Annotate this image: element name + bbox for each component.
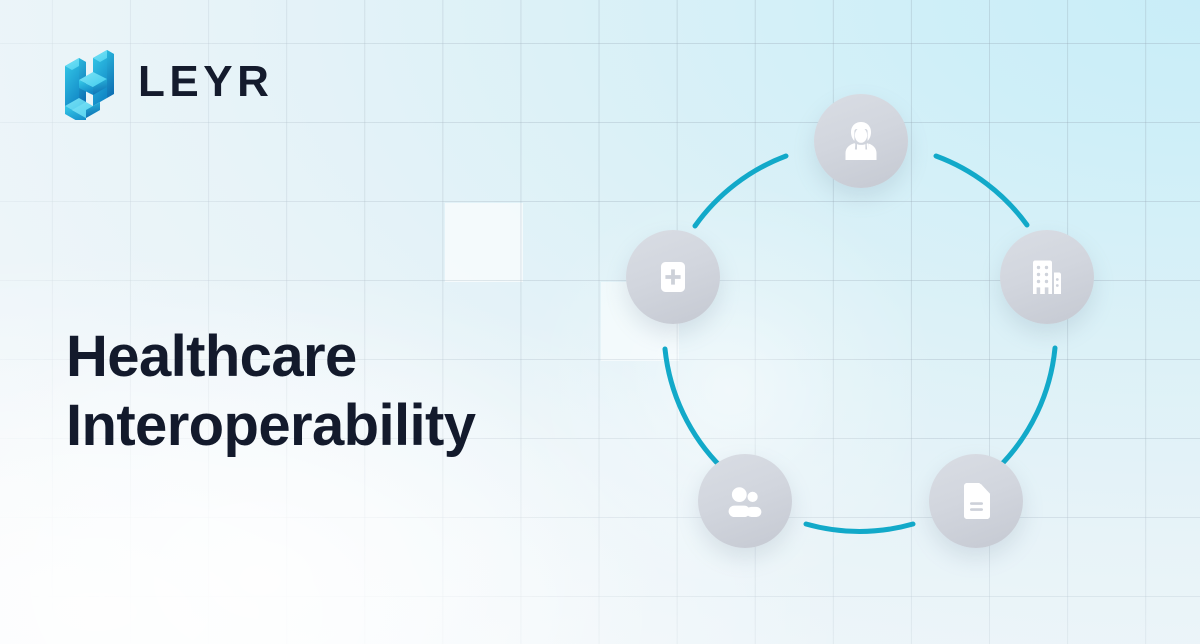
hospital-building-icon: [1023, 253, 1071, 301]
doctor-stethoscope-icon: [837, 117, 885, 165]
page-title: Healthcare Interoperability: [66, 322, 626, 461]
cycle-node-hospital[interactable]: [1000, 230, 1094, 324]
arc-hospital-to-records: [998, 348, 1055, 468]
people-group-icon: [721, 477, 769, 525]
arc-patients-to-care: [665, 349, 722, 468]
page-title-line-2: Interoperability: [66, 391, 626, 461]
banner-canvas: LEYR Healthcare Interoperability: [0, 0, 1200, 644]
interoperability-cycle-diagram: [600, 72, 1120, 592]
brand-lockup[interactable]: LEYR: [62, 44, 273, 120]
cycle-node-clinician[interactable]: [814, 94, 908, 188]
cycle-node-patients[interactable]: [698, 454, 792, 548]
cycle-node-records[interactable]: [929, 454, 1023, 548]
arc-care-to-clinician: [695, 156, 786, 226]
arc-records-to-patients: [806, 524, 913, 531]
medical-cross-plus-icon: [649, 253, 697, 301]
leyr-isometric-h-logo-icon: [62, 44, 118, 120]
page-title-line-1: Healthcare: [66, 322, 626, 392]
arc-clinician-to-hospital: [936, 156, 1027, 225]
cycle-node-care[interactable]: [626, 230, 720, 324]
brand-wordmark: LEYR: [138, 60, 273, 104]
document-record-icon: [952, 477, 1000, 525]
